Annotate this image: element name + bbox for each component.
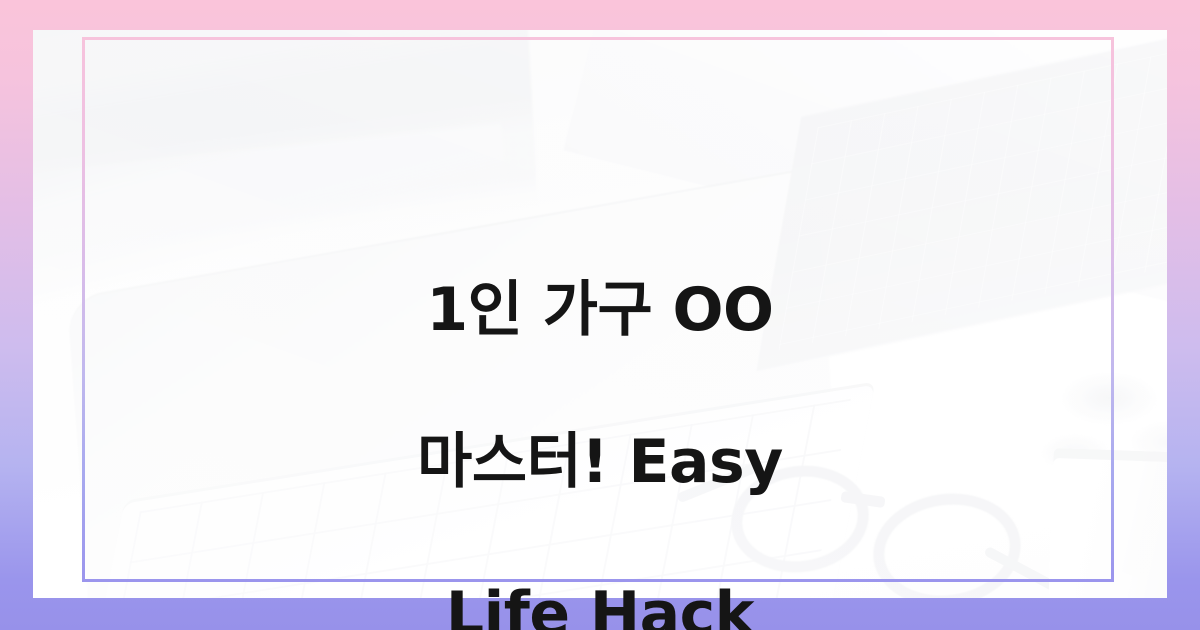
- headline-line-3: Life Hack: [0, 576, 1200, 630]
- headline: 1인 가구 OO 마스터! Easy Life Hack: [0, 196, 1200, 630]
- headline-line-2: 마스터! Easy: [0, 424, 1200, 500]
- thumbnail-canvas: 1인 가구 OO 마스터! Easy Life Hack: [0, 0, 1200, 630]
- headline-line-1: 1인 가구 OO: [0, 272, 1200, 348]
